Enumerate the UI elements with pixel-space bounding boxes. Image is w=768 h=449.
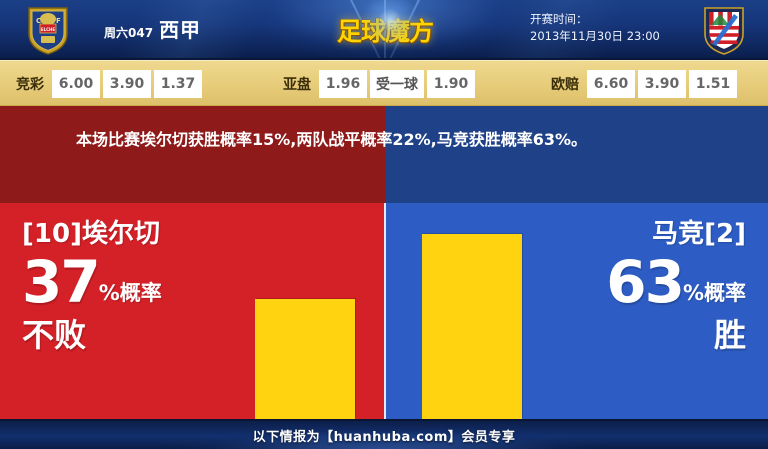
kickoff-value: 2013年11月30日 23:00 xyxy=(530,28,660,45)
league-info: 周六047 西甲 xyxy=(104,14,201,43)
odds-cell[interactable]: 6.00 xyxy=(52,70,100,98)
odds-group-jingcai: 竞彩 6.00 3.90 1.37 xyxy=(16,70,202,98)
home-team-name: [10]埃尔切 xyxy=(22,217,162,251)
home-percent-value: 37 xyxy=(22,253,99,311)
brand-logo-text: 足球魔方 xyxy=(337,12,433,48)
away-percent-value: 63 xyxy=(606,253,683,311)
odds-cell[interactable]: 3.90 xyxy=(638,70,686,98)
summary-background-left xyxy=(0,106,385,203)
odds-cell[interactable]: 6.60 xyxy=(587,70,635,98)
header-bar: C F ELCHE 周六047 西甲 足球魔方 开赛时间： 2013年11月30… xyxy=(0,0,768,60)
odds-cell[interactable]: 1.51 xyxy=(689,70,737,98)
summary-banner: 本场比赛埃尔切获胜概率15%,两队战平概率22%,马竞获胜概率63%。 xyxy=(0,106,768,203)
home-percent-row: 37 %概率 xyxy=(22,253,162,311)
atletico-madrid-crest xyxy=(698,4,750,56)
summary-background-right xyxy=(385,106,768,203)
round-number: 周六047 xyxy=(104,24,153,41)
probability-chart: [10]埃尔切 37 %概率 不败 马竞[2] 63 %概率 胜 xyxy=(0,203,768,419)
brand-logo[interactable]: 足球魔方 xyxy=(320,4,450,56)
kickoff-time: 开赛时间： 2013年11月30日 23:00 xyxy=(530,11,660,45)
odds-cell[interactable]: 1.96 xyxy=(319,70,367,98)
odds-cell[interactable]: 1.37 xyxy=(154,70,202,98)
summary-text: 本场比赛埃尔切获胜概率15%,两队战平概率22%,马竞获胜概率63%。 xyxy=(76,126,716,154)
home-probability-bar xyxy=(255,299,355,419)
elche-cf-crest: C F ELCHE xyxy=(22,4,74,56)
home-outcome-label: 不败 xyxy=(22,315,162,355)
home-percent-unit: %概率 xyxy=(99,283,162,311)
odds-cell[interactable]: 3.90 xyxy=(103,70,151,98)
away-outcome-label: 胜 xyxy=(606,315,746,355)
odds-bar: 竞彩 6.00 3.90 1.37 亚盘 1.96 受一球 1.90 欧赔 6.… xyxy=(0,60,768,106)
odds-group-label: 竞彩 xyxy=(16,70,49,98)
svg-text:ELCHE: ELCHE xyxy=(41,27,56,32)
kickoff-label: 开赛时间： xyxy=(530,11,660,28)
odds-group-label: 欧赔 xyxy=(551,70,584,98)
footer-text: 以下情报为【huanhuba.com】会员专享 xyxy=(253,426,516,445)
odds-group-label: 亚盘 xyxy=(283,70,316,98)
away-percent-row: 63 %概率 xyxy=(606,253,746,311)
away-probability-bar xyxy=(422,234,522,419)
svg-text:C: C xyxy=(36,17,41,25)
odds-group-yapan: 亚盘 1.96 受一球 1.90 xyxy=(283,70,475,98)
league-name: 西甲 xyxy=(159,14,201,43)
away-team-info: 马竞[2] 63 %概率 胜 xyxy=(606,217,746,355)
odds-group-oupei: 欧赔 6.60 3.90 1.51 xyxy=(551,70,737,98)
odds-cell[interactable]: 1.90 xyxy=(427,70,475,98)
home-team-panel: [10]埃尔切 37 %概率 不败 xyxy=(0,203,384,419)
away-team-name: 马竞[2] xyxy=(606,217,746,251)
away-team-panel: 马竞[2] 63 %概率 胜 xyxy=(386,203,768,419)
match-preview-card: C F ELCHE 周六047 西甲 足球魔方 开赛时间： 2013年11月30… xyxy=(0,0,768,449)
footer-bar: 以下情报为【huanhuba.com】会员专享 xyxy=(0,419,768,449)
odds-cell-handicap[interactable]: 受一球 xyxy=(370,70,424,98)
away-percent-unit: %概率 xyxy=(683,283,746,311)
home-team-info: [10]埃尔切 37 %概率 不败 xyxy=(22,217,162,355)
svg-text:F: F xyxy=(56,17,61,25)
